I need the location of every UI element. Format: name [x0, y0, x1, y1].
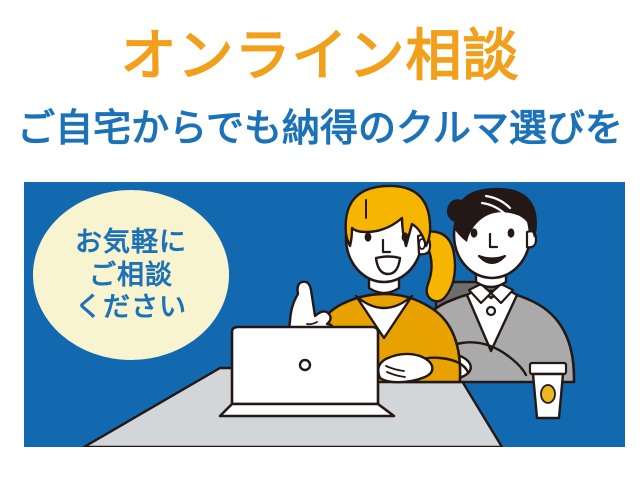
page-subtitle: ご自宅からでも納得のクルマ選びを — [0, 110, 640, 148]
badge-line-2: ご相談 — [89, 259, 173, 292]
page-title: オンライン相談 — [0, 28, 640, 84]
consultation-badge: お気軽に ご相談 ください — [33, 190, 229, 360]
online-consultation-banner: オンライン相談 ご自宅からでも納得のクルマ選びを — [0, 0, 640, 480]
illustration-panel: お気軽に ご相談 ください — [24, 182, 625, 447]
badge-line-1: お気軽に — [75, 226, 187, 259]
laptop — [220, 327, 394, 416]
coffee-cup — [530, 363, 566, 418]
badge-line-3: ください — [75, 291, 187, 324]
